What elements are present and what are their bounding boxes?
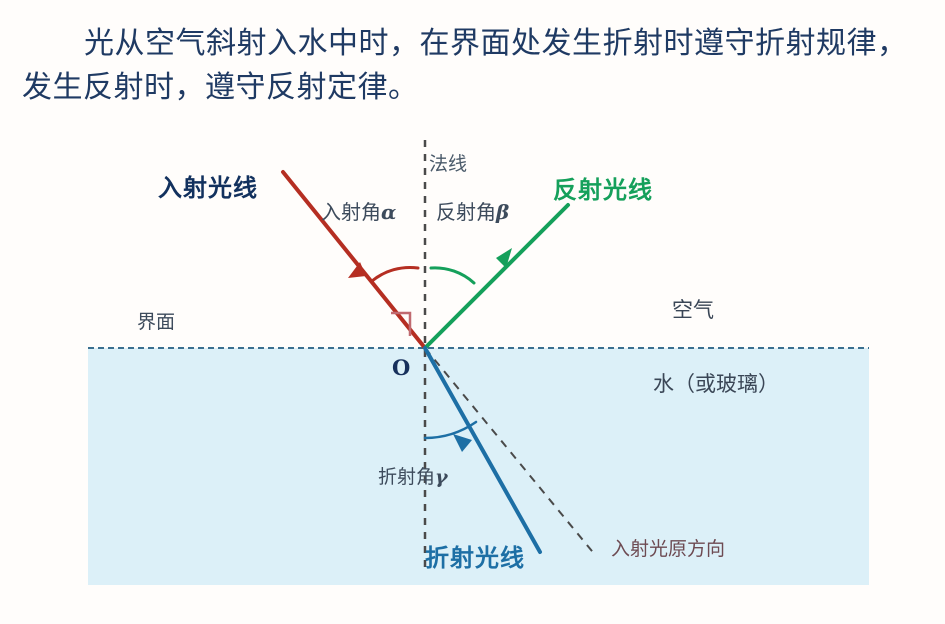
angle-of-incidence-symbol: α: [381, 200, 396, 224]
origin-point-label: O: [392, 355, 410, 380]
angle-of-reflection-label: 反射角β: [436, 196, 509, 225]
air-region-label: 空气: [672, 294, 714, 324]
angle-of-reflection-text: 反射角: [436, 200, 496, 224]
normal-line-label: 法线: [429, 149, 467, 176]
incident-ray-label: 入射光线: [158, 168, 258, 203]
reflected-ray-line: [425, 205, 568, 348]
angle-of-refraction-symbol: γ: [435, 466, 448, 488]
water-region-label: 水（或玻璃）: [653, 368, 779, 398]
refracted-ray-label: 折射光线: [425, 538, 525, 573]
angle-of-incidence-label: 入射角α: [321, 196, 396, 225]
reflected-ray-label: 反射光线: [553, 170, 653, 205]
interface-label: 界面: [137, 307, 175, 334]
angle-incidence-arc: [372, 267, 418, 281]
angle-of-reflection-symbol: β: [496, 200, 509, 224]
angle-of-refraction-text: 折射角: [378, 466, 435, 488]
angle-of-incidence-text: 入射角: [321, 200, 381, 224]
angle-of-refraction-label: 折射角γ: [378, 462, 448, 489]
original-direction-label: 入射光原方向: [611, 534, 725, 561]
slide-canvas: 光从空气斜射入水中时，在界面处发生折射时遵守折射规律，发生反射时，遵守反射定律。…: [0, 0, 945, 624]
angle-reflection-arc: [431, 268, 474, 283]
